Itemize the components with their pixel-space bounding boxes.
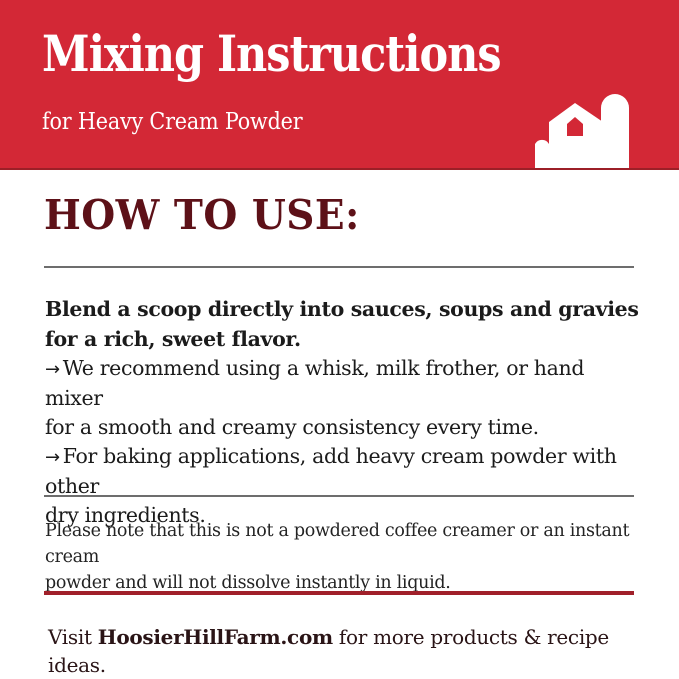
barn-silo-icon <box>531 82 641 170</box>
divider-footer-red <box>44 591 634 595</box>
page-title: Mixing Instructions <box>42 26 501 82</box>
bullet-1-text-1: We recommend using a whisk, milk frother… <box>45 356 584 410</box>
lead-line-2: for a rich, sweet flavor. <box>45 324 641 354</box>
bullet-1-line-2: for a smooth and creamy consistency ever… <box>45 413 641 442</box>
arrow-icon: → <box>45 359 63 380</box>
arrow-icon: → <box>45 447 63 468</box>
section-heading-how-to-use: HOW TO USE: <box>44 192 360 238</box>
bullet-1-line-1: →We recommend using a whisk, milk frothe… <box>45 354 641 413</box>
bullet-2-text-1: For baking applications, add heavy cream… <box>45 444 617 498</box>
divider-top <box>44 266 634 268</box>
footer-visit-line: Visit HoosierHillFarm.com for more produ… <box>48 623 638 679</box>
disclaimer-note: Please note that this is not a powdered … <box>45 518 639 596</box>
divider-bottom <box>44 495 634 497</box>
bullet-2-line-1: →For baking applications, add heavy crea… <box>45 442 641 501</box>
page-subtitle: for Heavy Cream Powder <box>42 108 302 136</box>
mixing-instructions-page: Mixing Instructions for Heavy Cream Powd… <box>0 0 679 679</box>
lead-line-1: Blend a scoop directly into sauces, soup… <box>45 294 641 324</box>
note-line-1: Please note that this is not a powdered … <box>45 518 639 570</box>
brand-link[interactable]: HoosierHillFarm.com <box>98 625 333 649</box>
header-banner: Mixing Instructions for Heavy Cream Powd… <box>0 0 679 170</box>
header-underline <box>0 168 679 170</box>
footer-prefix: Visit <box>48 625 98 649</box>
